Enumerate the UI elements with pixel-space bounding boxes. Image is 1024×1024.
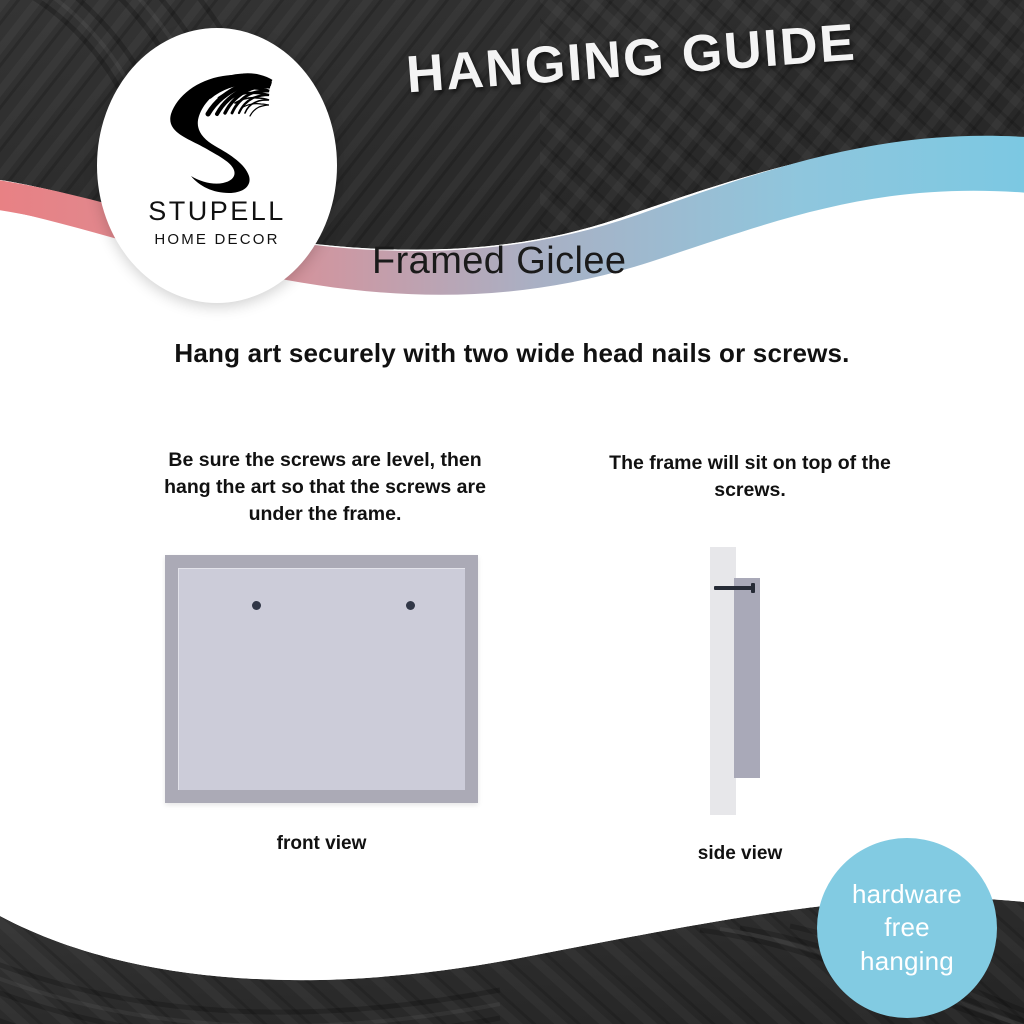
front-view-caption: Be sure the screws are level, then hang …: [160, 447, 490, 528]
side-view-frame: [734, 578, 760, 778]
badge-line-1: hardware: [852, 878, 962, 911]
nail-side-icon: [714, 583, 758, 593]
logo-brand-subtitle: HOME DECOR: [154, 232, 279, 247]
product-type-heading: Framed Giclee: [372, 240, 626, 283]
hardware-free-hanging-badge: hardware free hanging: [817, 838, 997, 1018]
side-view-label: side view: [655, 843, 825, 865]
badge-line-2: free: [884, 911, 930, 944]
side-view-diagram: [710, 547, 772, 815]
nail-shaft: [714, 586, 754, 590]
nail-head: [751, 583, 755, 593]
side-view-caption: The frame will sit on top of the screws.: [600, 450, 900, 504]
brand-logo-badge: STUPELL HOME DECOR: [97, 28, 337, 303]
screw-dot-right: [406, 601, 415, 610]
hanging-guide-page: STUPELL HOME DECOR HANGING GUIDE Framed …: [0, 0, 1024, 1024]
stupell-s-swoosh-icon: [157, 62, 277, 194]
front-view-label: front view: [165, 833, 478, 855]
screw-dot-left: [252, 601, 261, 610]
front-view-mat: [178, 568, 465, 790]
page-title: HANGING GUIDE: [370, 10, 893, 108]
badge-line-3: hanging: [860, 945, 954, 978]
logo-brand-name: STUPELL: [148, 198, 286, 225]
lead-instruction-text: Hang art securely with two wide head nai…: [0, 338, 1024, 369]
front-view-diagram: [165, 555, 478, 803]
